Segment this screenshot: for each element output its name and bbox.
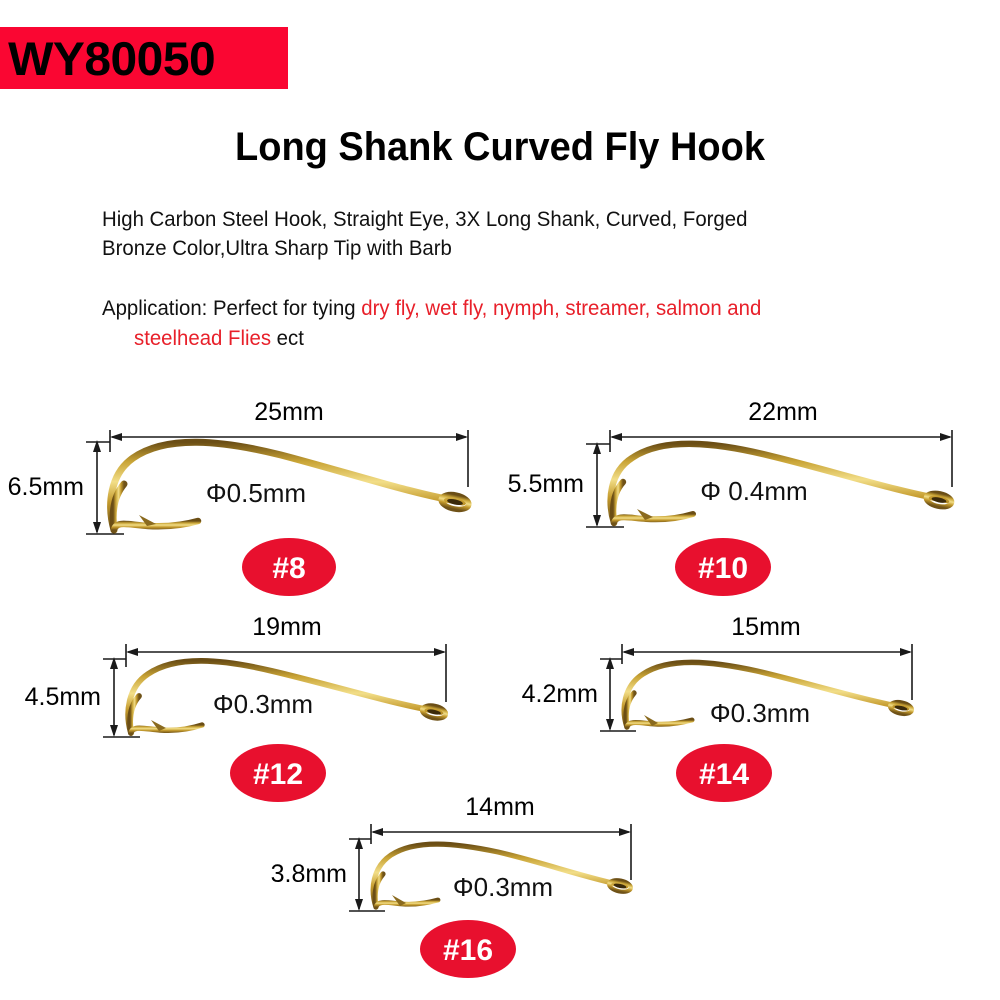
description-line-1: High Carbon Steel Hook, Straight Eye, 3X… [102, 208, 747, 231]
hook-wire-label-12: Φ0.3mm [213, 689, 313, 719]
hook-figure-10: 22mm 5.5mm Φ 0.4mm #10 [500, 392, 1000, 597]
size-badge-10: #10 [675, 538, 771, 596]
length-dimension-14: 15mm [622, 613, 912, 700]
hook-length-label-8: 25mm [254, 398, 323, 426]
gape-dimension-10: 5.5mm [508, 442, 624, 527]
application-text: Application: Perfect for tying dry fly, … [102, 294, 878, 354]
sku-code: WY80050 [0, 35, 215, 82]
hook-figure-8: 25mm 6.5mm [6, 392, 526, 597]
application-prefix: Application: Perfect for tying [102, 297, 361, 320]
size-badge-16: #16 [420, 920, 516, 978]
size-badge-label-14: #14 [699, 758, 749, 791]
hook-figure-14: 15mm 4.2mm Φ0.3mm #14 [520, 612, 1000, 807]
application-highlight-2: steelhead Flies [134, 327, 271, 350]
gape-dimension-16: 3.8mm [271, 837, 385, 911]
hook-gape-label-8: 6.5mm [8, 473, 84, 501]
length-dimension-10: 22mm [610, 398, 952, 487]
length-dimension-16: 14mm [371, 793, 631, 880]
size-badge-8: #8 [242, 538, 336, 596]
hook-length-label-12: 19mm [252, 613, 321, 641]
hook-length-label-16: 14mm [465, 793, 534, 821]
hook-gape-label-14: 4.2mm [522, 680, 598, 708]
hook-wire-label-16: Φ0.3mm [453, 872, 553, 902]
product-infographic: WY80050 Long Shank Curved Fly Hook High … [0, 0, 1000, 1000]
size-badge-label-12: #12 [253, 758, 303, 791]
size-badge-label-16: #16 [443, 934, 493, 967]
product-description: High Carbon Steel Hook, Straight Eye, 3X… [102, 205, 868, 263]
hook-figure-12: 19mm 4.5mm Φ0.3mm #12 [26, 612, 526, 807]
hook-wire-label-10: Φ 0.4mm [700, 476, 807, 506]
hook-length-label-10: 22mm [748, 398, 817, 426]
size-badge-label-8: #8 [272, 552, 305, 585]
application-suffix: ect [271, 327, 304, 350]
hook-gape-label-16: 3.8mm [271, 860, 347, 888]
page-title: Long Shank Curved Fly Hook [25, 125, 975, 170]
hook-length-label-14: 15mm [731, 613, 800, 641]
gape-dimension-14: 4.2mm [522, 657, 636, 731]
gape-dimension-12: 4.5mm [25, 657, 140, 737]
hook-gape-label-12: 4.5mm [25, 683, 101, 711]
gape-dimension-8: 6.5mm [8, 440, 124, 534]
hook-wire-label-8: Φ0.5mm [206, 478, 306, 508]
hook-figure-16: 14mm 3.8mm Φ0.3mm #16 [265, 792, 735, 987]
hook-wire-label-14: Φ0.3mm [710, 698, 810, 728]
size-badge-label-10: #10 [698, 552, 748, 585]
application-highlight-1: dry fly, wet fly, nymph, streamer, salmo… [361, 297, 761, 320]
hook-gape-label-10: 5.5mm [508, 470, 584, 498]
sku-banner: WY80050 [0, 27, 288, 89]
description-line-2: Bronze Color,Ultra Sharp Tip with Barb [102, 237, 452, 260]
